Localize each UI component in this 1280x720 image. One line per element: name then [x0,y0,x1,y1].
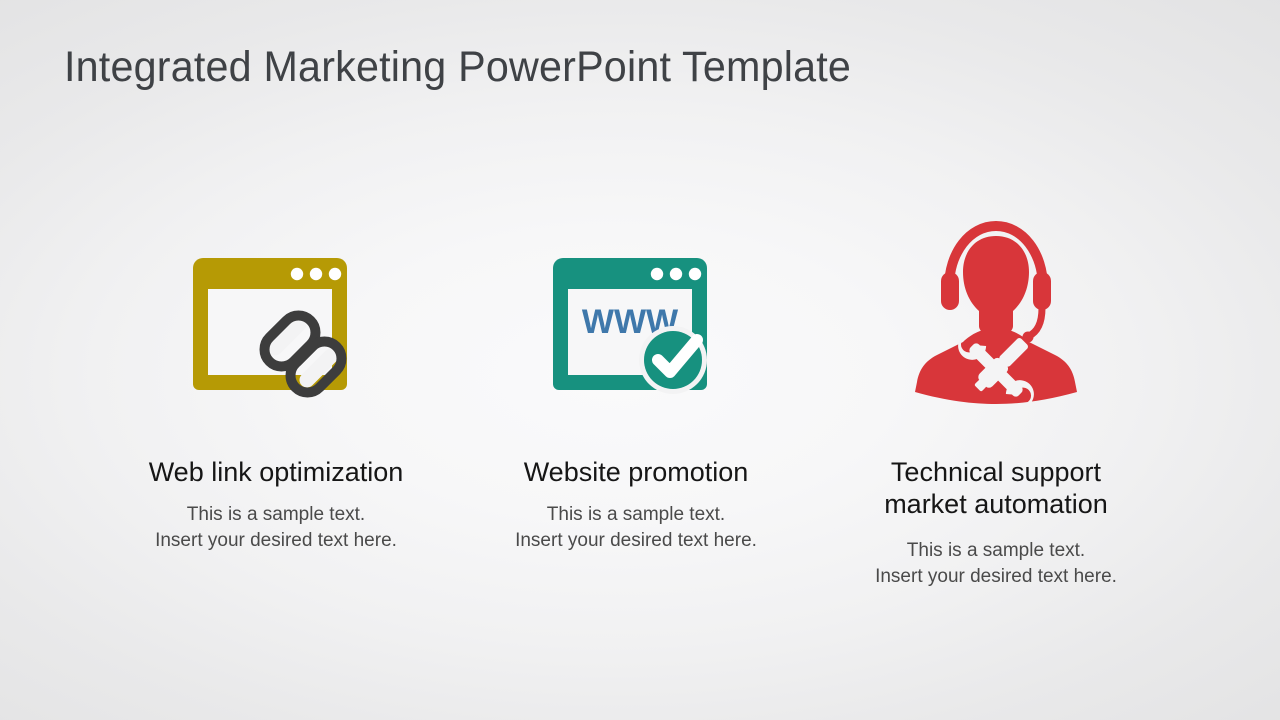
window-dot-3 [329,268,341,280]
feature-headline-2: Website promotion [524,456,749,488]
feature-body-1: This is a sample text. Insert your desir… [155,502,397,554]
technical-support-agent-icon[interactable] [905,210,1087,410]
window-dot-2 [310,268,322,280]
feature-body-3: This is a sample text. Insert your desir… [875,538,1117,590]
icon-container-3 [905,196,1087,410]
window-dot-3 [689,268,701,280]
icon-container-2: WWW [545,196,727,410]
left-earcup [941,272,959,310]
feature-body-2: This is a sample text. Insert your desir… [515,502,757,554]
feature-column-technical-support: Technical support market automation This… [816,196,1176,590]
website-promotion-icon[interactable]: WWW [545,250,727,410]
icon-container-1 [185,196,367,410]
web-link-optimization-icon[interactable] [185,250,367,410]
window-dot-1 [291,268,303,280]
right-earcup [1033,272,1051,310]
check-badge-icon [639,326,707,394]
feature-column-website-promotion: WWW Website promotion This is a sample t… [456,196,816,590]
mic-tip [1023,332,1034,343]
feature-column-web-link-optimization: Web link optimization This is a sample t… [96,196,456,590]
slide-canvas: Integrated Marketing PowerPoint Template [0,0,1280,720]
page-title: Integrated Marketing PowerPoint Template [64,40,851,94]
feature-columns: Web link optimization This is a sample t… [0,196,1280,590]
window-dot-2 [670,268,682,280]
feature-headline-3: Technical support market automation [884,456,1108,520]
feature-headline-1: Web link optimization [149,456,404,488]
window-dot-1 [651,268,663,280]
